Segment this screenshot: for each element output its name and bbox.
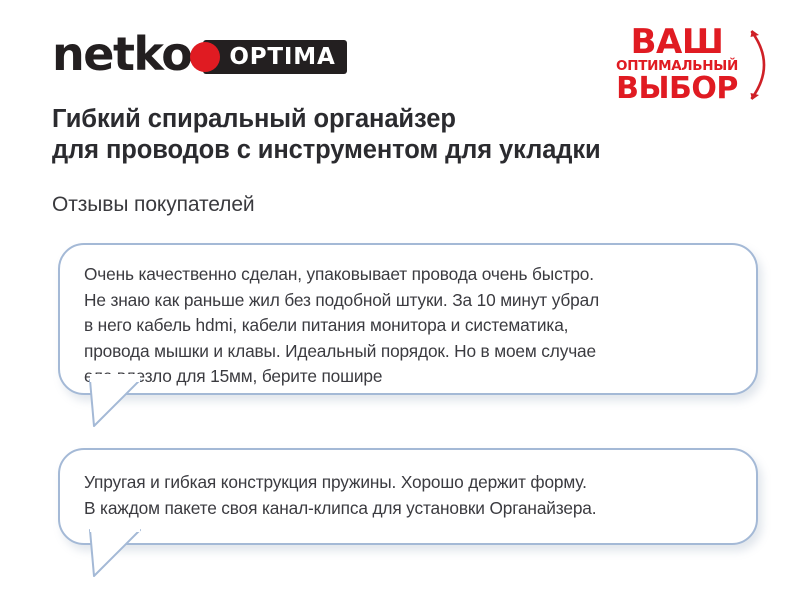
best-choice-line3: ВЫБОР (607, 74, 747, 103)
speech-bubble-tail-icon (88, 380, 148, 436)
netko-optima-logo[interactable]: netko OPTIMA (52, 26, 347, 82)
page-title: Гибкий спиральный органайзер для проводо… (52, 104, 612, 166)
page-title-line-1: Гибкий спиральный органайзер (52, 104, 612, 135)
brand-wordmark: netko (52, 31, 191, 77)
speech-bubble-tail-icon (88, 530, 148, 586)
review-text: Упругая и гибкая конструкция пружины. Хо… (84, 470, 596, 521)
best-choice-line1: ВАШ (607, 26, 747, 58)
best-choice-text: ВАШ ОПТИМАЛЬНЫЙ ВЫБОР (607, 26, 747, 103)
optima-badge: OPTIMA (203, 40, 346, 74)
review-bubble[interactable]: Очень качественно сделан, упаковывает пр… (58, 243, 758, 395)
page-header: netko OPTIMA ВАШ ОПТИМАЛЬНЫЙ ВЫБОР (0, 0, 800, 110)
best-choice-badge: ВАШ ОПТИМАЛЬНЫЙ ВЫБОР (607, 26, 782, 104)
curved-double-arrow-icon (746, 24, 782, 106)
section-subtitle: Отзывы покупателей (52, 192, 255, 218)
page-title-line-2: для проводов с инструментом для укладки (52, 135, 612, 166)
optima-label: OPTIMA (229, 46, 335, 69)
review-bubble[interactable]: Упругая и гибкая конструкция пружины. Хо… (58, 448, 758, 545)
promo-page: netko OPTIMA ВАШ ОПТИМАЛЬНЫЙ ВЫБОР Гибки… (0, 0, 800, 600)
review-text: Очень качественно сделан, упаковывает пр… (84, 262, 599, 390)
